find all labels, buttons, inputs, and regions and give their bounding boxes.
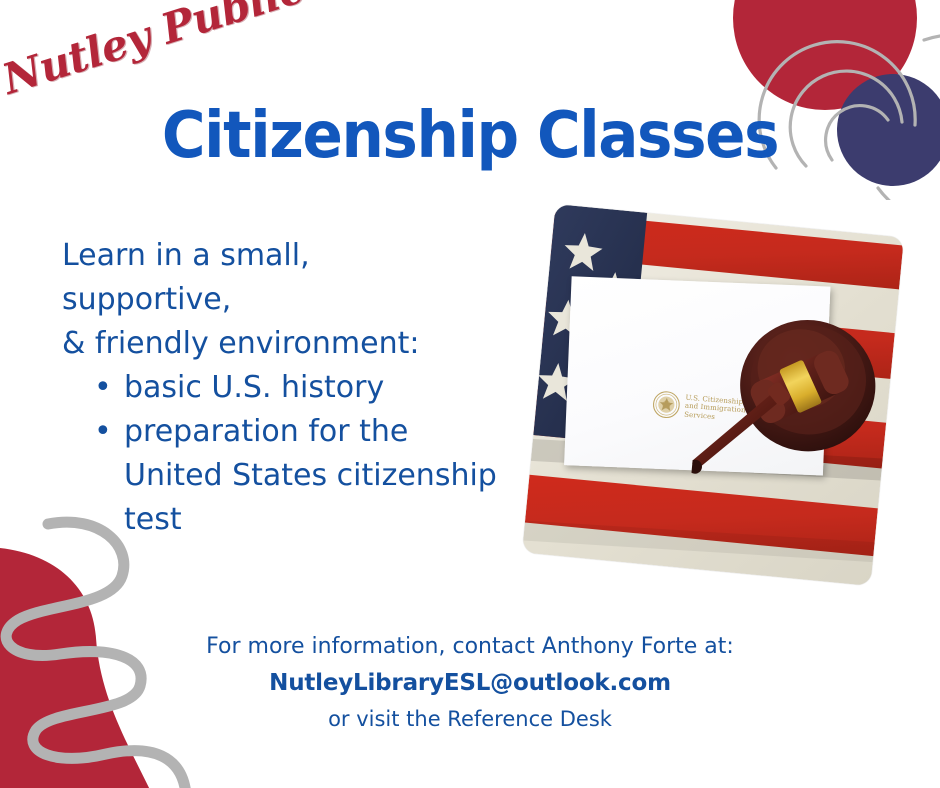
gavel-image [689, 296, 897, 516]
list-item-label: basic U.S. history [124, 366, 502, 410]
poster-canvas: Nutley Public Library Citizenship Classe… [0, 0, 940, 788]
list-item: • preparation for the United States citi… [92, 410, 502, 542]
page-title: Citizenship Classes [33, 104, 907, 168]
reference-desk-note: or visit the Reference Desk [0, 702, 940, 736]
red-circle-shape [733, 0, 917, 110]
organization-name: Nutley Public Library [0, 0, 482, 104]
photo-wrapper: U.S. Citizenship and Immigration Service… [516, 206, 908, 636]
bullet-icon: • [94, 410, 112, 454]
body-copy: Learn in a small, supportive, & friendly… [62, 234, 502, 542]
list-item-label: preparation for the United States citize… [124, 410, 502, 542]
course-topics-list: • basic U.S. history • preparation for t… [62, 366, 502, 542]
uscis-seal-icon [651, 390, 680, 419]
footer-contact: For more information, contact Anthony Fo… [0, 630, 940, 736]
contact-email[interactable]: NutleyLibraryESL@outlook.com [0, 664, 940, 702]
lead-line-2: supportive, [62, 278, 502, 322]
bullet-icon: • [94, 366, 112, 410]
lead-paragraph: Learn in a small, supportive, & friendly… [62, 234, 502, 366]
lead-line-1: Learn in a small, [62, 234, 502, 278]
lead-line-3: & friendly environment: [62, 322, 502, 366]
contact-instruction: For more information, contact Anthony Fo… [0, 630, 940, 664]
citizenship-photo: U.S. Citizenship and Immigration Service… [522, 204, 904, 586]
list-item: • basic U.S. history [92, 366, 502, 410]
